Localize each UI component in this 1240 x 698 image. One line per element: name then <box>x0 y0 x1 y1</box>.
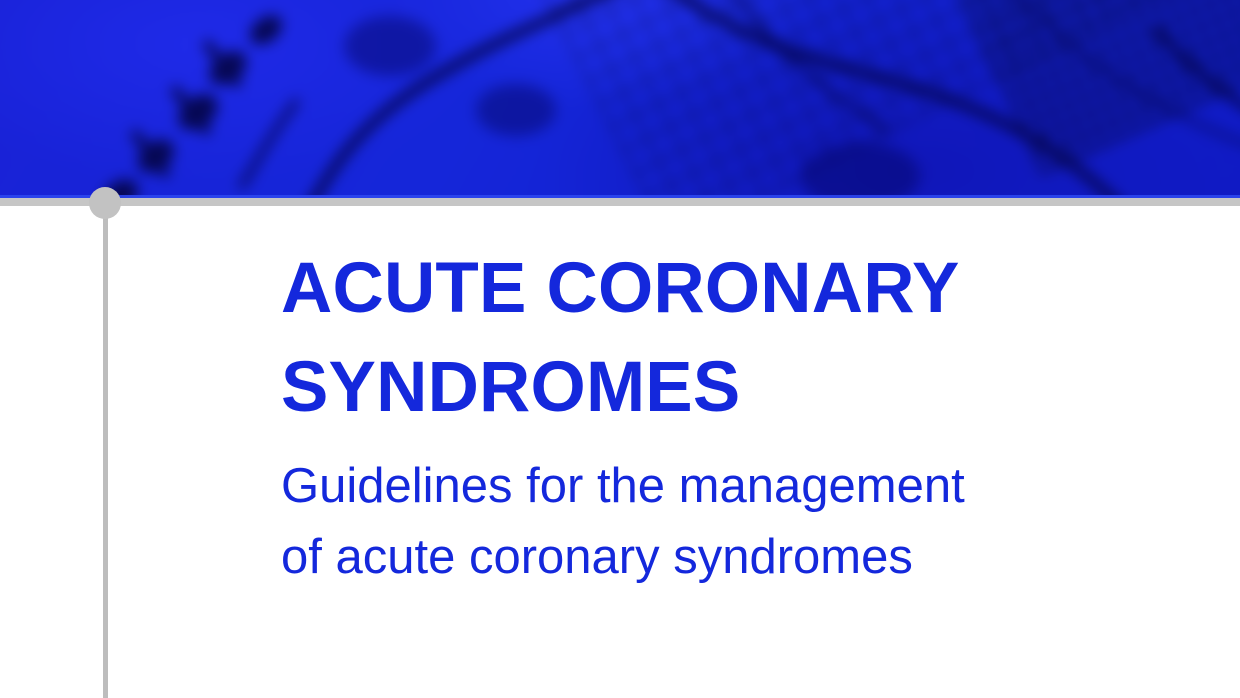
divider-band <box>0 198 1240 206</box>
banner-image-texture <box>0 0 1240 198</box>
timeline-line <box>103 203 108 698</box>
title-block: ACUTE CORONARY SYNDROMES Guidelines for … <box>281 240 1141 593</box>
page-subtitle: Guidelines for the management of acute c… <box>281 451 1141 593</box>
banner-strand-overlay <box>0 0 1240 198</box>
page-title: ACUTE CORONARY SYNDROMES <box>281 240 1141 437</box>
timeline-dot-icon <box>89 187 121 219</box>
banner-image <box>0 0 1240 198</box>
title-slide: ACUTE CORONARY SYNDROMES Guidelines for … <box>0 0 1240 698</box>
